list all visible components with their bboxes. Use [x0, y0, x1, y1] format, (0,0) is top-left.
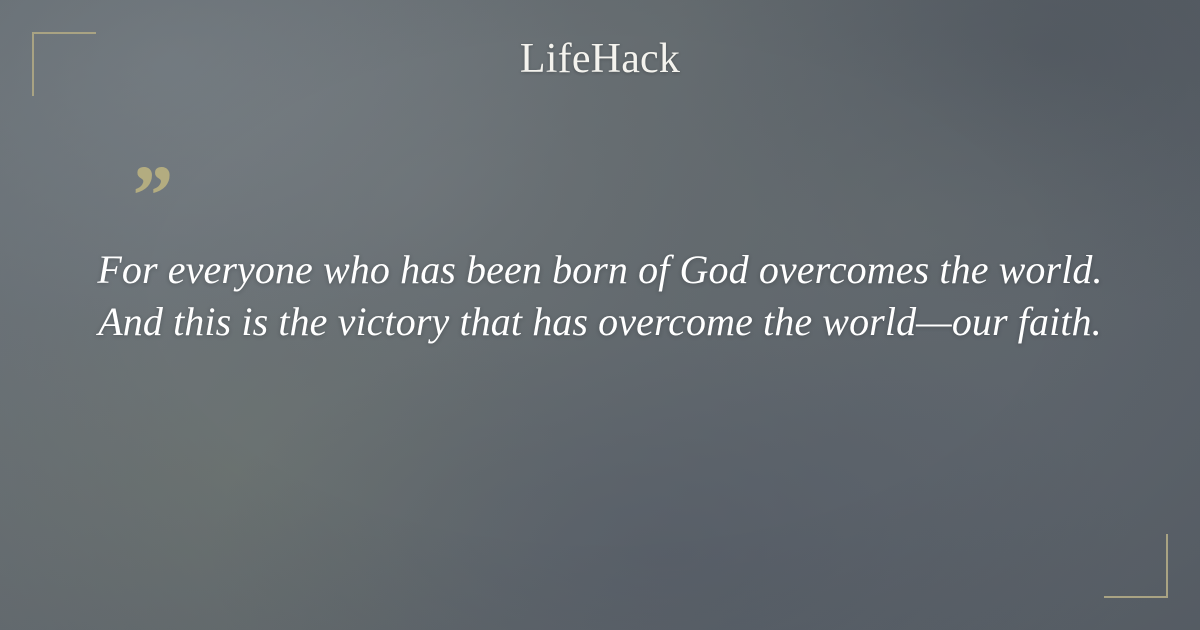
quote-container: For everyone who has been born of God ov…	[84, 244, 1116, 348]
quote-card: LifeHack ” For everyone who has been bor…	[0, 0, 1200, 630]
quotation-mark-icon: ”	[128, 152, 171, 238]
brand-logo: LifeHack	[0, 36, 1200, 82]
quote-text: For everyone who has been born of God ov…	[84, 244, 1116, 348]
corner-bracket-bottom-right-icon	[1104, 534, 1168, 598]
